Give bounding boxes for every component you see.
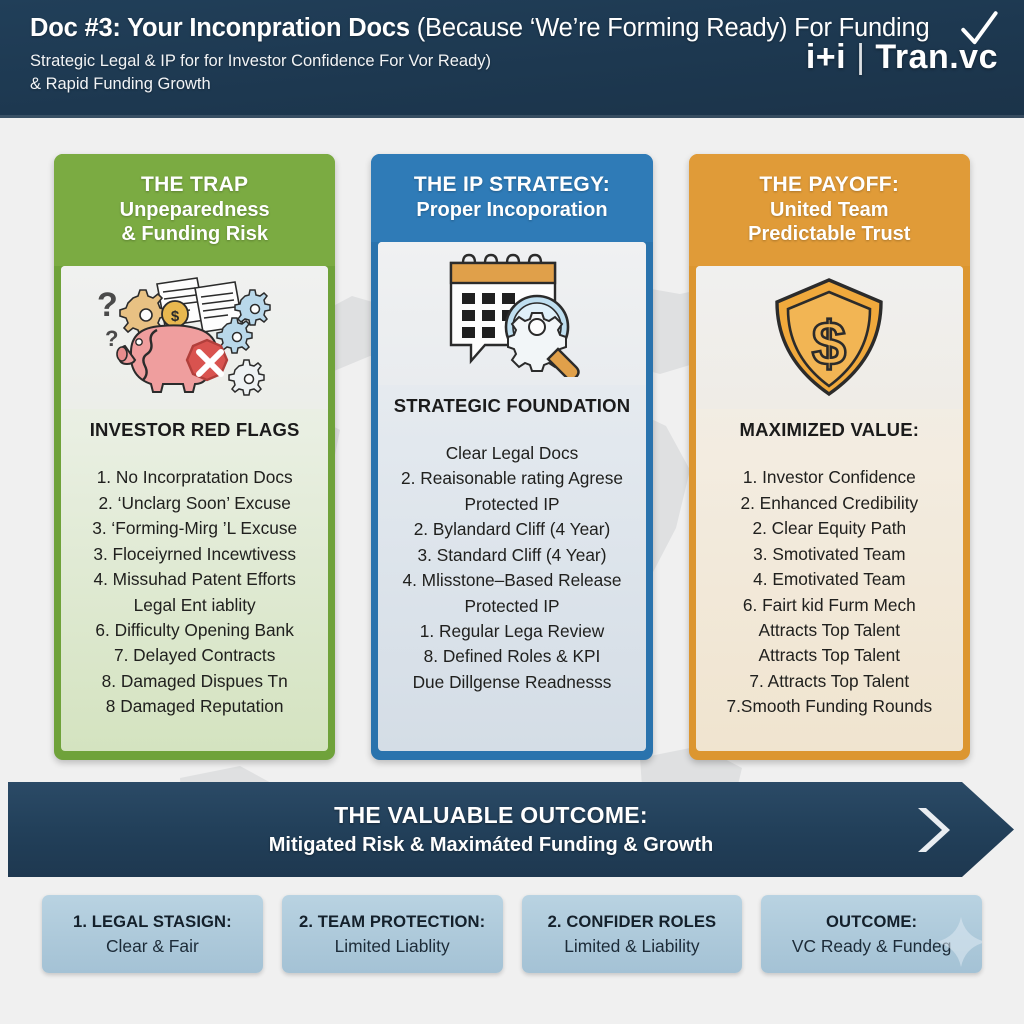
brand-logo-divider: |	[856, 38, 865, 77]
panel-title-line-1: THE PAYOFF:	[699, 172, 960, 198]
three-column-panels: THE TRAP Unpeparedness & Funding Risk ? …	[0, 118, 1024, 760]
panel-header-the-payoff: THE PAYOFF: United Team Predictable Trus…	[689, 154, 970, 266]
list-item: 4. Mlisstone–Based Release	[386, 568, 637, 593]
brand-logo[interactable]: i+i | Tran.vc	[806, 38, 998, 77]
page-header: Doc #3: Your Inconpration Docs (Because …	[0, 0, 1024, 118]
shield-dollar-icon: $	[771, 276, 887, 400]
outcome-banner: THE VALUABLE OUTCOME: Mitigated Risk & M…	[8, 782, 1014, 877]
panel-the-trap: THE TRAP Unpeparedness & Funding Risk ? …	[54, 154, 335, 760]
footer-chip-label: OUTCOME:	[826, 912, 917, 932]
footer-chip-confider-roles[interactable]: 2. CONFIDER ROLES Limited & Liability	[522, 895, 743, 973]
panel-icon-zone-the-trap: ? ?	[61, 266, 328, 409]
svg-text:$: $	[812, 310, 846, 379]
panel-header-the-ip-strategy: THE IP STRATEGY: Proper Incoporation	[371, 154, 652, 242]
footer-chip-label: 2. CONFIDER ROLES	[548, 912, 717, 932]
list-item: Protected IP	[386, 492, 637, 517]
outcome-banner-line-2: Mitigated Risk & Maximáted Funding & Gro…	[269, 834, 713, 857]
footer-chip-legal-stasign[interactable]: 1. LEGAL STASIGN: Clear & Fair	[42, 895, 263, 973]
list-item: Legal Ent iablity	[69, 593, 320, 618]
panel-title-line-3: & Funding Risk	[64, 222, 325, 246]
list-item: 2. Clear Equity Path	[704, 516, 955, 541]
svg-text:?: ?	[105, 326, 118, 351]
list-item: 7. Attracts Top Talent	[704, 669, 955, 694]
svg-text:?: ?	[97, 286, 118, 324]
panel-icon-zone-the-ip-strategy	[378, 242, 645, 385]
infographic-page: Doc #3: Your Inconpration Docs (Because …	[0, 0, 1024, 1024]
page-subtitle: Strategic Legal & IP for for Investor Co…	[30, 50, 730, 98]
panel-the-payoff: THE PAYOFF: United Team Predictable Trus…	[689, 154, 970, 760]
panel-body-the-trap: ? ?	[61, 266, 328, 751]
list-item: 2. ‘Unclarg Soon’ Excuse	[69, 491, 320, 516]
list-item: 3. Standard Cliff (4 Year)	[386, 543, 637, 568]
panel-title-line-2: United Team	[699, 198, 960, 222]
panel-title-line-1: THE TRAP	[64, 172, 325, 198]
panel-header-the-trap: THE TRAP Unpeparedness & Funding Risk	[54, 154, 335, 266]
list-item: 3. Floceiyrned Incewtivess	[69, 542, 320, 567]
calendar-magnifier-gear-icon	[437, 251, 587, 377]
list-item: 6. Fairt kid Furm Mech	[704, 593, 955, 618]
list-item: Due Dillgense Readnesss	[386, 670, 637, 695]
list-item: 2. Reaisonable rating Agrese	[386, 466, 637, 491]
panel-title-line-3: Predictable Trust	[699, 222, 960, 246]
list-item: Protected IP	[386, 594, 637, 619]
page-subtitle-line-2: & Rapid Funding Growth	[30, 73, 730, 97]
outcome-banner-line-1: THE VALUABLE OUTCOME:	[334, 802, 648, 829]
list-item: 7. Delayed Contracts	[69, 643, 320, 668]
broken-piggy-bank-documents-gears-icon: ? ?	[95, 274, 295, 402]
list-item: 1. No Incorpratation Docs	[69, 465, 320, 490]
footer-summary-chips: 1. LEGAL STASIGN: Clear & Fair 2. TEAM P…	[0, 882, 1024, 973]
outcome-banner-wrapper: THE VALUABLE OUTCOME: Mitigated Risk & M…	[0, 782, 1024, 882]
footer-chip-label: 1. LEGAL STASIGN:	[73, 912, 232, 932]
footer-chip-outcome[interactable]: OUTCOME: VC Ready & Fundeg	[761, 895, 982, 973]
section-title-maximized-value: MAXIMIZED VALUE:	[696, 409, 963, 441]
footer-chip-value: Limited Liablity	[335, 936, 450, 957]
footer-chip-value: Clear & Fair	[106, 936, 199, 957]
list-item: 2. Bylandard Cliff (4 Year)	[386, 517, 637, 542]
panel-title-line-2: Unpeparedness	[64, 198, 325, 222]
list-item: 3. ‘Forming-Mirg ’L Excuse	[69, 516, 320, 541]
list-item: 2. Enhanced Credibility	[704, 491, 955, 516]
page-title-main: Doc #3: Your Inconpration Docs	[30, 14, 410, 42]
panel-body-the-ip-strategy: STRATEGIC FOUNDATION Clear Legal Docs 2.…	[378, 242, 645, 751]
list-item: Attracts Top Talent	[704, 643, 955, 668]
list-item: 8 Damaged Reputation	[69, 694, 320, 719]
brand-logo-mark: i+i	[806, 38, 846, 77]
list-item: 8. Damaged Dispues Tn	[69, 669, 320, 694]
list-maximized-value: 1. Investor Confidence 2. Enhanced Credi…	[696, 441, 963, 731]
list-item: Attracts Top Talent	[704, 618, 955, 643]
panel-icon-zone-the-payoff: $	[696, 266, 963, 409]
list-item: 8. Defined Roles & KPI	[386, 644, 637, 669]
footer-chip-value: Limited & Liability	[564, 936, 699, 957]
list-item: 1. Regular Lega Review	[386, 619, 637, 644]
footer-chip-label: 2. TEAM PROTECTION:	[299, 912, 485, 932]
list-item: 1. Investor Confidence	[704, 465, 955, 490]
svg-text:$: $	[170, 308, 179, 325]
panel-title-line-2: Proper Incoporation	[381, 198, 642, 222]
list-strategic-foundation: Clear Legal Docs 2. Reaisonable rating A…	[378, 417, 645, 707]
list-item: Clear Legal Docs	[386, 441, 637, 466]
page-subtitle-line-1: Strategic Legal & IP for for Investor Co…	[30, 50, 730, 74]
section-title-investor-red-flags: INVESTOR RED FLAGS	[61, 409, 328, 441]
list-item: 7.Smooth Funding Rounds	[704, 694, 955, 719]
list-item: 3. Smotivated Team	[704, 542, 955, 567]
footer-chip-value: VC Ready & Fundeg	[792, 936, 952, 957]
section-title-strategic-foundation: STRATEGIC FOUNDATION	[378, 385, 645, 417]
list-investor-red-flags: 1. No Incorpratation Docs 2. ‘Unclarg So…	[61, 441, 328, 731]
panel-the-ip-strategy: THE IP STRATEGY: Proper Incoporation	[371, 154, 652, 760]
panel-title-line-1: THE IP STRATEGY:	[381, 172, 642, 198]
footer-chip-team-protection[interactable]: 2. TEAM PROTECTION: Limited Liablity	[282, 895, 503, 973]
brand-logo-name: Tran.vc	[875, 38, 998, 77]
panel-body-the-payoff: $ MAXIMIZED VALUE: 1. Investor Confidenc…	[696, 266, 963, 751]
list-item: 4. Emotivated Team	[704, 567, 955, 592]
list-item: 6. Difficulty Opening Bank	[69, 618, 320, 643]
list-item: 4. Missuhad Patent Efforts	[69, 567, 320, 592]
